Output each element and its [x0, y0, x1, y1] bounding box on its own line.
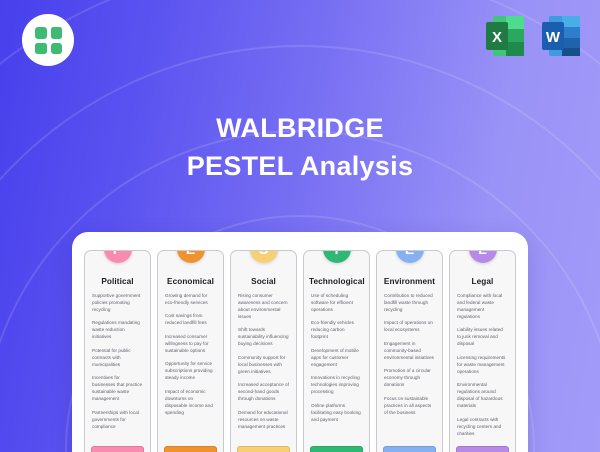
pestel-column-title: Technological	[309, 277, 364, 293]
word-icon[interactable]: W	[542, 14, 582, 58]
pestel-item: Licensing requirements for waste managem…	[457, 355, 508, 376]
pestel-color-bar	[164, 446, 217, 452]
logo-block	[35, 27, 47, 39]
pestel-color-bar	[91, 446, 144, 452]
pestel-item: Community support for local businesses w…	[238, 355, 289, 376]
pestel-item: Development of mobile apps for customer …	[311, 348, 362, 369]
pestel-item: Liability issues related to junk removal…	[457, 327, 508, 348]
pestel-item: Contribution to reduced landfill waste t…	[384, 293, 435, 314]
pestel-column-title: Economical	[163, 277, 218, 293]
pestel-letter-badge: S	[250, 250, 278, 263]
pestel-item: Incentives for businesses that practice …	[92, 375, 143, 403]
title-block: WALBRIDGE PESTEL Analysis	[0, 113, 600, 183]
pestel-color-bar	[310, 446, 363, 452]
pestel-item-list: Use of scheduling software for efficient…	[309, 293, 364, 424]
pestel-color-bar	[237, 446, 290, 452]
pestel-letter-badge: T	[323, 250, 351, 263]
pestel-letter-badge: P	[104, 250, 132, 263]
pestel-item: Legal contracts with recycling centers a…	[457, 417, 508, 438]
pestel-item: Partnerships with local governments for …	[92, 410, 143, 431]
pestel-item: Eco-friendly vehicles reducing carbon fo…	[311, 320, 362, 341]
pestel-item: Demand for educational resources on wast…	[238, 410, 289, 431]
pestel-item: Growing demand for eco-friendly services	[165, 293, 216, 307]
pestel-item: Online platforms facilitating easy booki…	[311, 403, 362, 424]
slide-canvas: X W WALBRIDGE PESTEL Analysis PPolitical…	[0, 0, 600, 452]
pestel-column-title: Environment	[382, 277, 437, 293]
pestel-item: Regulations mandating waste reduction in…	[92, 320, 143, 341]
app-grid-logo-icon	[22, 14, 74, 66]
logo-grid-shape	[35, 27, 62, 54]
pestel-column-title: Political	[90, 277, 145, 293]
pestel-item: Impact of operations on local ecosystems	[384, 320, 435, 334]
pestel-item: Promotion of a circular economy through …	[384, 368, 435, 389]
svg-text:W: W	[546, 29, 561, 46]
company-name: WALBRIDGE	[0, 113, 600, 145]
page-title: PESTEL Analysis	[0, 151, 600, 183]
logo-block	[51, 27, 62, 39]
pestel-item: Opportunity for service subscriptions pr…	[165, 361, 216, 382]
pestel-item: Compliance with local and federal waste …	[457, 293, 508, 321]
pestel-panel: PPoliticalSupportive government policies…	[72, 232, 528, 452]
pestel-item: Cost savings from reduced landfill fees	[165, 313, 216, 327]
pestel-item-list: Supportive government policies promoting…	[90, 293, 145, 431]
pestel-item: Increased consumer willingness to pay fo…	[165, 334, 216, 355]
pestel-item: Potential for public contracts with muni…	[92, 348, 143, 369]
pestel-letter-badge: E	[396, 250, 424, 263]
pestel-item-list: Compliance with local and federal waste …	[455, 293, 510, 437]
excel-icon[interactable]: X	[486, 14, 526, 58]
pestel-item: Use of scheduling software for efficient…	[311, 293, 362, 314]
pestel-column-title: Legal	[455, 277, 510, 293]
svg-text:X: X	[492, 29, 502, 46]
pestel-item: Increased acceptance of second-hand good…	[238, 382, 289, 403]
pestel-item: Innovations in recycling technologies im…	[311, 375, 362, 396]
pestel-columns: PPoliticalSupportive government policies…	[84, 250, 516, 452]
pestel-column-technological[interactable]: TTechnologicalUse of scheduling software…	[303, 250, 370, 452]
pestel-item-list: Rising consumer awareness and concern ab…	[236, 293, 291, 431]
pestel-letter-badge: E	[177, 250, 205, 263]
pestel-color-bar	[383, 446, 436, 452]
pestel-column-economical[interactable]: EEconomicalGrowing demand for eco-friend…	[157, 250, 224, 452]
logo-block	[51, 43, 62, 54]
logo-block	[35, 43, 47, 54]
pestel-color-bar	[456, 446, 509, 452]
pestel-item: Rising consumer awareness and concern ab…	[238, 293, 289, 321]
pestel-item: Focus on sustainable practices in all as…	[384, 396, 435, 417]
pestel-column-political[interactable]: PPoliticalSupportive government policies…	[84, 250, 151, 452]
pestel-column-legal[interactable]: LLegalCompliance with local and federal …	[449, 250, 516, 452]
pestel-item: Engagement in community-based environmen…	[384, 341, 435, 362]
pestel-column-social[interactable]: SSocialRising consumer awareness and con…	[230, 250, 297, 452]
pestel-item-list: Contribution to reduced landfill waste t…	[382, 293, 437, 417]
pestel-column-title: Social	[236, 277, 291, 293]
pestel-item: Environmental regulations around disposa…	[457, 382, 508, 410]
pestel-item: Impact of economic downturns on disposab…	[165, 389, 216, 417]
pestel-item-list: Growing demand for eco-friendly services…	[163, 293, 218, 417]
pestel-letter-badge: L	[469, 250, 497, 263]
pestel-item: Shift towards sustainability influencing…	[238, 327, 289, 348]
pestel-item: Supportive government policies promoting…	[92, 293, 143, 314]
pestel-column-environment[interactable]: EEnvironmentContribution to reduced land…	[376, 250, 443, 452]
